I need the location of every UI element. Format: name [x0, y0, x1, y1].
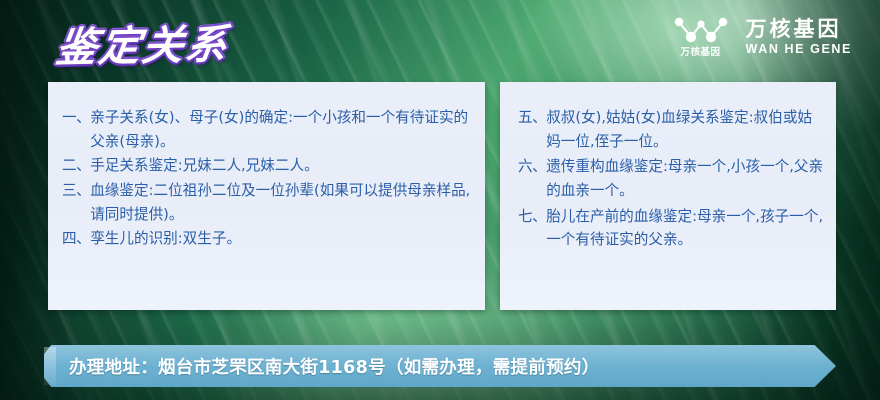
list-item-number: 三、	[62, 179, 90, 203]
list-item: 五、 叔叔(女),姑姑(女)血绿关系鉴定:叔伯或姑妈一位,侄子一位。	[518, 106, 826, 153]
list-item: 四、 孪生儿的识别:双生子。	[62, 227, 471, 251]
address-banner-text: 办理地址：烟台市芝罘区南大街1168号（如需办理，需提前预约）	[69, 345, 600, 387]
list-item-text: 血缘鉴定:二位祖孙二位及一位孙辈(如果可以提供母亲样品,请同时提供)。	[90, 179, 471, 226]
molecule-network-icon	[672, 16, 730, 46]
list-item-number: 四、	[62, 227, 90, 251]
list-item: 七、 胎儿在产前的血缘鉴定:母亲一个,孩子一个,一个有待证实的父亲。	[518, 205, 826, 252]
content-panels: 一、 亲子关系(女)、母子(女)的确定:一个小孩和一个有待证实的父亲(母亲)。 …	[48, 82, 836, 310]
brand-name-en: WAN HE GENE	[746, 43, 853, 56]
list-item-text: 亲子关系(女)、母子(女)的确定:一个小孩和一个有待证实的父亲(母亲)。	[90, 106, 471, 153]
brand-name-cn: 万核基因	[746, 19, 853, 40]
list-item-number: 七、	[518, 205, 546, 229]
list-item: 一、 亲子关系(女)、母子(女)的确定:一个小孩和一个有待证实的父亲(母亲)。	[62, 106, 471, 153]
list-item-number: 一、	[62, 106, 90, 130]
panel-left: 一、 亲子关系(女)、母子(女)的确定:一个小孩和一个有待证实的父亲(母亲)。 …	[48, 82, 485, 310]
list-item-text: 遗传重构血缘鉴定:母亲一个,小孩一个,父亲的血亲一个。	[546, 155, 826, 202]
panel-right: 五、 叔叔(女),姑姑(女)血绿关系鉴定:叔伯或姑妈一位,侄子一位。 六、 遗传…	[500, 82, 836, 310]
list-item: 三、 血缘鉴定:二位祖孙二位及一位孙辈(如果可以提供母亲样品,请同时提供)。	[62, 179, 471, 226]
address-banner-tab	[44, 347, 56, 385]
address-banner: 办理地址：烟台市芝罘区南大街1168号（如需办理，需提前预约）	[44, 345, 836, 387]
logo-mark: 万核基因	[672, 16, 730, 58]
list-item-number: 二、	[62, 154, 90, 178]
brand-logo[interactable]: 万核基因 万核基因 WAN HE GENE	[672, 16, 853, 58]
list-item-number: 五、	[518, 106, 546, 130]
slide-root: 鉴定关系	[0, 0, 880, 400]
list-item: 二、 手足关系鉴定:兄妹二人,兄妹二人。	[62, 154, 471, 178]
logo-wordmark: 万核基因 WAN HE GENE	[746, 19, 853, 56]
list-item-text: 孪生儿的识别:双生子。	[90, 227, 471, 251]
logo-mark-label: 万核基因	[680, 48, 720, 58]
header: 鉴定关系	[0, 0, 880, 82]
list-item-text: 叔叔(女),姑姑(女)血绿关系鉴定:叔伯或姑妈一位,侄子一位。	[546, 106, 826, 153]
list-item-text: 胎儿在产前的血缘鉴定:母亲一个,孩子一个,一个有待证实的父亲。	[546, 205, 826, 252]
list-item: 六、 遗传重构血缘鉴定:母亲一个,小孩一个,父亲的血亲一个。	[518, 155, 826, 202]
page-title: 鉴定关系	[53, 10, 234, 74]
list-item-number: 六、	[518, 155, 546, 179]
list-item-text: 手足关系鉴定:兄妹二人,兄妹二人。	[90, 154, 471, 178]
